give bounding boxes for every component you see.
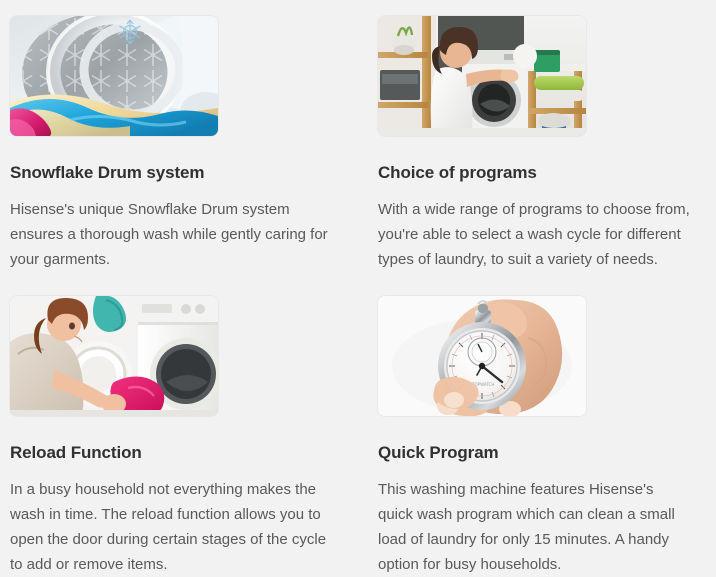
quick-program-illustration: STOPWATCH — [378, 296, 586, 416]
choice-of-programs-illustration — [378, 16, 586, 136]
feature-title: Reload Function — [10, 442, 344, 463]
quick-program-photo: STOPWATCH — [378, 296, 586, 416]
feature-card-quick-program: STOPWATCH Quick Program This washing mac… — [368, 296, 716, 577]
feature-description: Hisense's unique Snowflake Drum system e… — [10, 197, 340, 272]
feature-card-choice-of-programs: Choice of programs With a wide range of … — [368, 16, 716, 272]
reload-function-illustration — [10, 296, 218, 416]
feature-description: In a busy household not everything makes… — [10, 477, 340, 577]
reload-function-photo — [10, 296, 218, 416]
features-grid: Snowflake Drum system Hisense's unique S… — [0, 0, 716, 577]
feature-card-reload-function: Reload Function In a busy household not … — [0, 296, 368, 577]
feature-title: Snowflake Drum system — [10, 162, 344, 183]
feature-description: This washing machine features Hisense's … — [378, 477, 692, 577]
feature-card-snowflake-drum-system: Snowflake Drum system Hisense's unique S… — [0, 16, 368, 272]
feature-title: Choice of programs — [378, 162, 692, 183]
feature-title: Quick Program — [378, 442, 692, 463]
feature-description: With a wide range of programs to choose … — [378, 197, 692, 272]
snowflake-drum-illustration — [10, 16, 218, 136]
snowflake-drum-photo — [10, 16, 218, 136]
choice-of-programs-photo — [378, 16, 586, 136]
